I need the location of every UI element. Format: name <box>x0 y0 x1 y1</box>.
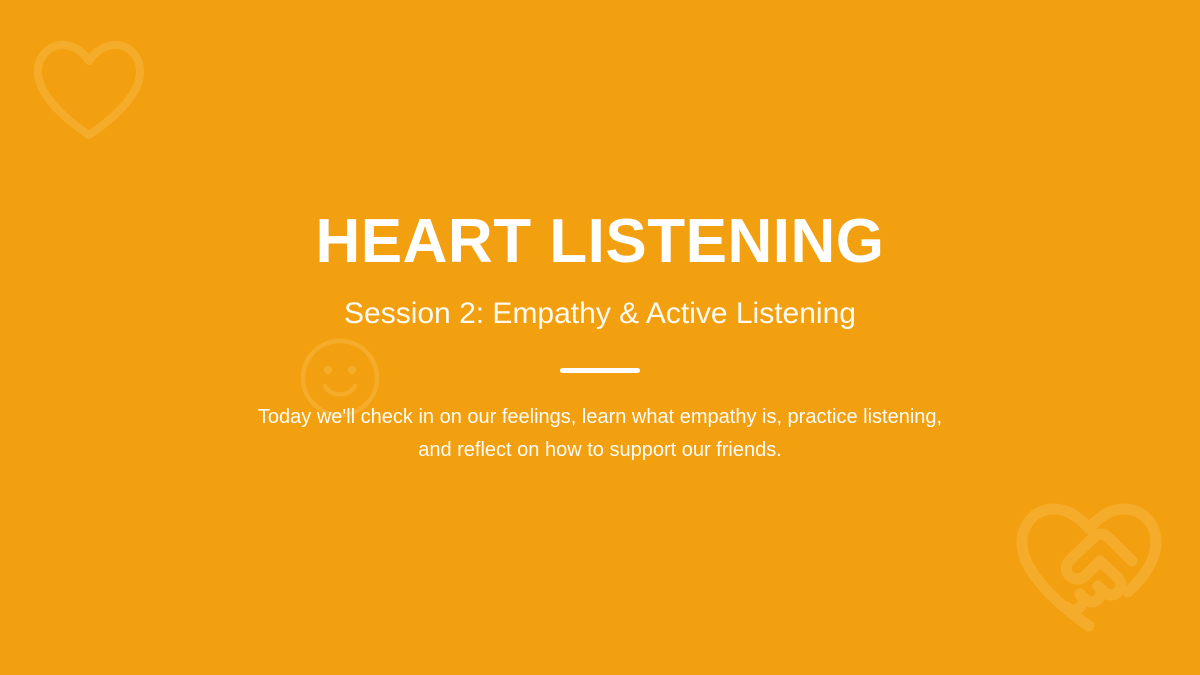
description-line: and reflect on how to support our friend… <box>258 434 942 466</box>
description-line: Today we'll check in on our feelings, le… <box>258 401 942 433</box>
slide-subtitle: Session 2: Empathy & Active Listening <box>344 296 856 332</box>
slide-content: HEART LISTENING Session 2: Empathy & Act… <box>0 0 1200 675</box>
divider <box>560 368 640 373</box>
page-title: HEART LISTENING <box>316 209 885 274</box>
slide-description: Today we'll check in on our feelings, le… <box>258 401 942 466</box>
title-slide: HEART LISTENING Session 2: Empathy & Act… <box>0 0 1200 675</box>
